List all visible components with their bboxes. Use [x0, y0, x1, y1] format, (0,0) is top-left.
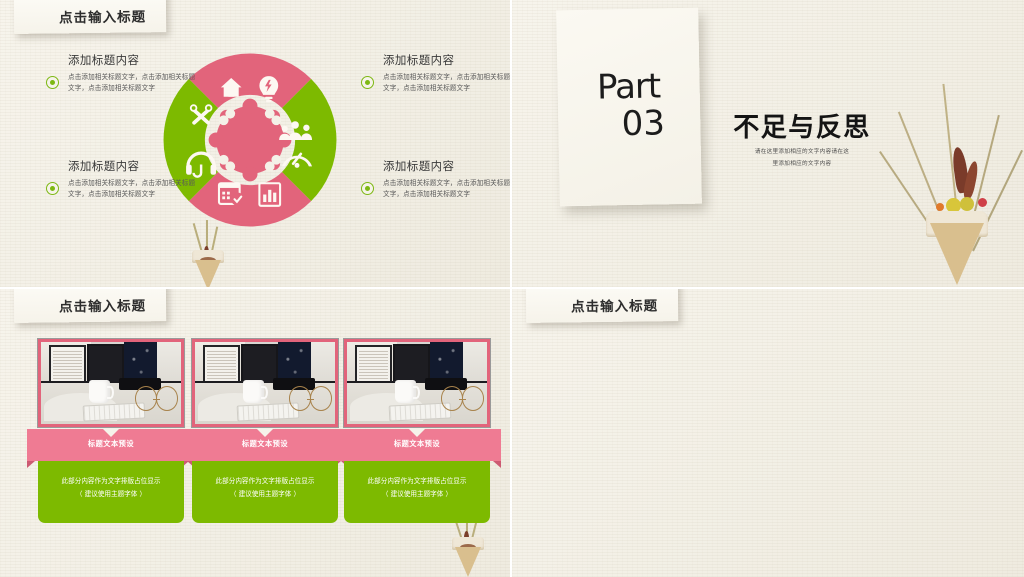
text-block-bottom-left[interactable]: 添加标题内容 点击添加相关标题文字，点击添加相关标题文字，点击添加相关标题文字 [68, 158, 200, 201]
slide-title: 点击输入标题 [59, 298, 146, 315]
cover-subheading-line2: 里添加相应的文字内容 [690, 159, 914, 171]
desk-photo-illustration [347, 342, 487, 424]
desk-photo-illustration [41, 342, 181, 424]
bullet-marker [46, 182, 59, 195]
bouquet-decoration [902, 40, 1012, 285]
card-ribbon-label: 标题文本预设 [27, 439, 195, 449]
ribbon-notch-icon [408, 428, 426, 437]
card-body-line1: 此部分内容作为文字排版占位显示 [48, 475, 174, 488]
slide-bell-curves[interactable]: 点击输入标题 20% 60% [512, 289, 1024, 577]
block-heading: 添加标题内容 [68, 52, 200, 68]
bullet-marker [46, 76, 59, 89]
desk-photo-illustration [195, 342, 335, 424]
slide-deck: 点击输入标题 [0, 0, 1024, 577]
part-number-card[interactable]: Part 03 [556, 8, 702, 207]
slide-title-tab[interactable]: 点击输入标题 [14, 0, 167, 34]
bullet-marker [361, 182, 374, 195]
bullet-marker [361, 76, 374, 89]
card-body: 此部分内容作为文字排版占位显示 （ 建议使用主题字体 ） [192, 461, 338, 523]
card-body-line2: （ 建议使用主题字体 ） [354, 488, 480, 501]
card-photo [344, 339, 490, 427]
part-label: Part [597, 69, 661, 106]
block-body: 点击添加相关标题文字，点击添加相关标题文字，点击添加相关标题文字 [383, 72, 512, 95]
wheel-hub [209, 99, 292, 182]
block-body: 点击添加相关标题文字，点击添加相关标题文字，点击添加相关标题文字 [68, 72, 200, 95]
text-block-top-right[interactable]: 添加标题内容 点击添加相关标题文字，点击添加相关标题文字，点击添加相关标题文字 [383, 52, 512, 95]
content-card[interactable]: 标题文本预设 此部分内容作为文字排版占位显示 （ 建议使用主题字体 ） [38, 339, 184, 523]
slide-three-cards[interactable]: 点击输入标题 标题文本预设 此部分内容作为文字排版占位显示 （ 建议使用主题字体… [0, 289, 512, 577]
card-body-line2: （ 建议使用主题字体 ） [48, 488, 174, 501]
card-photo [192, 339, 338, 427]
slide-title-tab[interactable]: 点击输入标题 [526, 289, 679, 323]
text-block-bottom-right[interactable]: 添加标题内容 点击添加相关标题文字，点击添加相关标题文字，点击添加相关标题文字 [383, 158, 512, 201]
content-card[interactable]: 标题文本预设 此部分内容作为文字排版占位显示 （ 建议使用主题字体 ） [192, 339, 338, 523]
block-heading: 添加标题内容 [383, 158, 512, 174]
cover-subheading: 请在这里添加相应的文字内容请在这 里添加相应的文字内容 [690, 147, 914, 170]
cover-heading: 不足与反思 [702, 107, 902, 144]
block-heading: 添加标题内容 [383, 52, 512, 68]
card-body-line2: （ 建议使用主题字体 ） [202, 488, 328, 501]
card-body-line1: 此部分内容作为文字排版占位显示 [354, 475, 480, 488]
block-body: 点击添加相关标题文字，点击添加相关标题文字，点击添加相关标题文字 [68, 178, 200, 201]
card-body: 此部分内容作为文字排版占位显示 （ 建议使用主题字体 ） [344, 461, 490, 523]
slide-title-tab[interactable]: 点击输入标题 [14, 289, 167, 323]
ribbon-notch-icon [102, 428, 120, 437]
slide-title: 点击输入标题 [59, 9, 146, 26]
card-ribbon: 标题文本预设 [27, 429, 195, 461]
content-card[interactable]: 标题文本预设 此部分内容作为文字排版占位显示 （ 建议使用主题字体 ） [344, 339, 490, 523]
text-block-top-left[interactable]: 添加标题内容 点击添加相关标题文字，点击添加相关标题文字，点击添加相关标题文字 [68, 52, 200, 95]
card-body-line1: 此部分内容作为文字排版占位显示 [202, 475, 328, 488]
slide-puzzle-wheel[interactable]: 点击输入标题 [0, 0, 512, 289]
slide-part-cover[interactable]: Part 03 不足与反思 请在这里添加相应的文字内容请在这 里添加相应的文字内… [512, 0, 1024, 289]
part-number: 03 [593, 105, 665, 145]
card-ribbon-label: 标题文本预设 [333, 439, 501, 449]
block-body: 点击添加相关标题文字，点击添加相关标题文字，点击添加相关标题文字 [383, 178, 512, 201]
card-ribbon-label: 标题文本预设 [181, 439, 349, 449]
ribbon-notch-icon [256, 428, 274, 437]
slide-title: 点击输入标题 [571, 298, 658, 315]
card-ribbon: 标题文本预设 [333, 429, 501, 461]
block-heading: 添加标题内容 [68, 158, 200, 174]
card-ribbon: 标题文本预设 [181, 429, 349, 461]
card-photo [38, 339, 184, 427]
card-body: 此部分内容作为文字排版占位显示 （ 建议使用主题字体 ） [38, 461, 184, 523]
cover-subheading-line1: 请在这里添加相应的文字内容请在这 [690, 147, 914, 159]
